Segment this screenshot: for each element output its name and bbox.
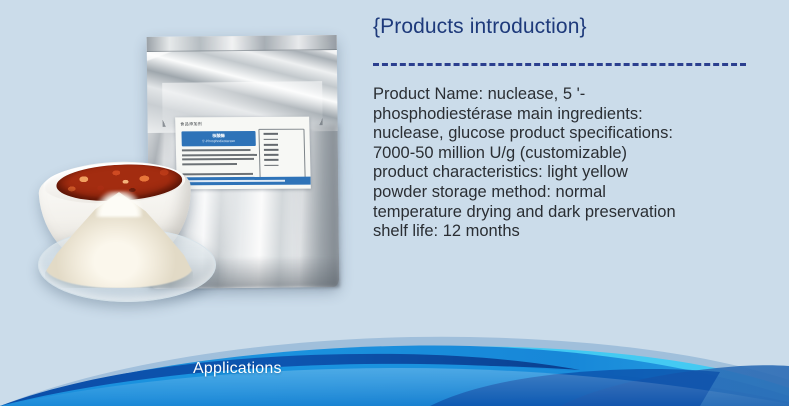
package-label-spec-line (182, 149, 260, 151)
package-label-info-box (258, 129, 305, 179)
package-label-spec-lines (182, 149, 260, 168)
package-label-info-line (264, 143, 300, 145)
dashed-divider (373, 63, 746, 66)
product-photo: 食品添加剂 核酸酶 5'-Phosphodiesterase (0, 0, 362, 345)
powder-peak-highlight (96, 191, 142, 217)
package-label-name-en: 5'-Phosphodiesterase (182, 139, 256, 144)
package-label-info-line (264, 159, 300, 161)
slide-canvas: 食品添加剂 核酸酶 5'-Phosphodiesterase (0, 0, 789, 406)
applications-banner (0, 328, 789, 406)
package-label-title-band: 核酸酶 5'-Phosphodiesterase (181, 131, 255, 146)
package-label-spec-line (182, 163, 260, 165)
package-label-footer-band (177, 177, 311, 186)
package-label-category: 食品添加剂 (180, 121, 202, 127)
pouch-top-seal (147, 35, 337, 52)
package-label-spec-line (182, 158, 260, 160)
package-label-info-line (264, 149, 300, 151)
page-title: {Products introduction} (373, 14, 773, 40)
product-description-text: Product Name: nuclease, 5 '- phosphodies… (373, 85, 753, 242)
applications-label: Applications (193, 360, 282, 378)
package-label-spec-line (182, 154, 260, 156)
package-label-footer-line (183, 180, 305, 182)
package-label-manufacturer-line (182, 173, 268, 175)
banner-wave-graphic (0, 328, 789, 406)
package-label-info-line (264, 164, 300, 166)
package-label-info-line (264, 154, 300, 156)
introduction-panel: {Products introduction} Product Name: nu… (373, 14, 773, 242)
package-label: 食品添加剂 核酸酶 5'-Phosphodiesterase (175, 117, 311, 190)
package-label-info-line (264, 138, 300, 140)
package-label-info-line (264, 133, 300, 135)
